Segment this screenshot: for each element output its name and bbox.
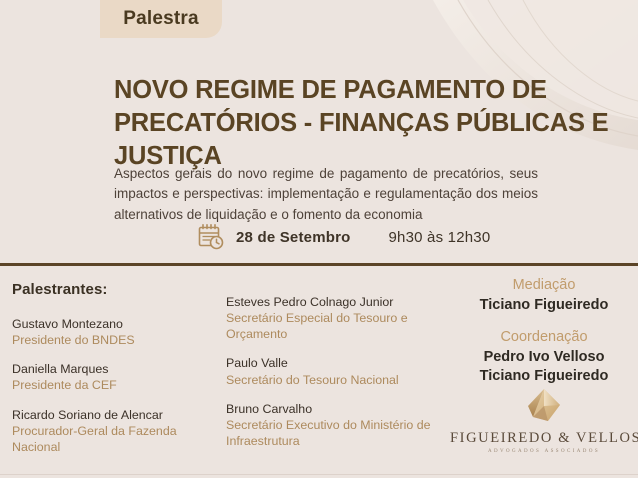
speakers-heading: Palestrantes: [12,281,218,298]
lower-section: Palestrantes: Gustavo Montezano Presiden… [0,266,638,478]
coordination-name: Ticiano Figueiredo [450,367,638,386]
speakers-column-one: Palestrantes: Gustavo Montezano Presiden… [12,281,218,468]
page-subtitle: Aspectos gerais do novo regime de pagame… [114,164,538,227]
mediation-label: Mediação [450,276,638,296]
speaker-role: Secretário do Tesouro Nacional [226,372,438,388]
event-time: 9h30 às 12h30 [389,229,491,246]
speaker-name: Esteves Pedro Colnago Junior [226,294,438,310]
organizers-column: Mediação Ticiano Figueiredo Coordenação … [450,276,638,400]
speaker-name: Ricardo Soriano de Alencar [12,407,218,423]
event-date: 28 de Setembro [236,229,351,246]
speaker-role: Presidente do BNDES [12,332,218,348]
speakers-column-two: Esteves Pedro Colnago Junior Secretário … [226,294,438,462]
speaker-name: Paulo Valle [226,355,438,371]
speaker-item: Gustavo Montezano Presidente do BNDES [12,316,218,348]
firm-tagline: ADVOGADOS ASSOCIADOS [450,449,638,454]
speaker-name: Daniella Marques [12,361,218,377]
coordination-name: Pedro Ivo Velloso [450,348,638,367]
firm-name: FIGUEIREDO & VELLOSO [450,430,638,447]
mediation-group: Mediação Ticiano Figueiredo [450,276,638,314]
speaker-item: Ricardo Soriano de Alencar Procurador-Ge… [12,407,218,455]
speaker-name: Gustavo Montezano [12,316,218,332]
event-poster: Palestra NOVO REGIME DE PAGAMENTO DE PRE… [0,0,638,478]
speaker-item: Daniella Marques Presidente da CEF [12,361,218,393]
speaker-role: Secretário Especial do Tesouro e Orçamen… [226,310,438,342]
speaker-role: Presidente da CEF [12,377,218,393]
firm-logo: FIGUEIREDO & VELLOSO ADVOGADOS ASSOCIADO… [450,384,638,454]
speaker-name: Bruno Carvalho [226,401,438,417]
mediation-name: Ticiano Figueiredo [450,296,638,315]
page-title: NOVO REGIME DE PAGAMENTO DE PRECATÓRIOS … [114,74,624,173]
speaker-role: Secretário Executivo do Ministério de In… [226,417,438,449]
event-datetime-row: 28 de Setembro 9h30 às 12h30 [196,222,490,252]
coordination-label: Coordenação [450,328,638,348]
badge-label: Palestra [123,8,199,30]
speaker-item: Esteves Pedro Colnago Junior Secretário … [226,294,438,342]
speaker-item: Paulo Valle Secretário do Tesouro Nacion… [226,355,438,387]
speaker-item: Bruno Carvalho Secretário Executivo do M… [226,401,438,449]
calendar-clock-icon [196,222,226,252]
bottom-border [0,474,638,475]
coordination-group: Coordenação Pedro Ivo Velloso Ticiano Fi… [450,328,638,385]
speaker-role: Procurador-Geral da Fazenda Nacional [12,423,218,455]
palestra-badge: Palestra [100,0,222,38]
diamond-gem-logo-icon [522,384,566,428]
